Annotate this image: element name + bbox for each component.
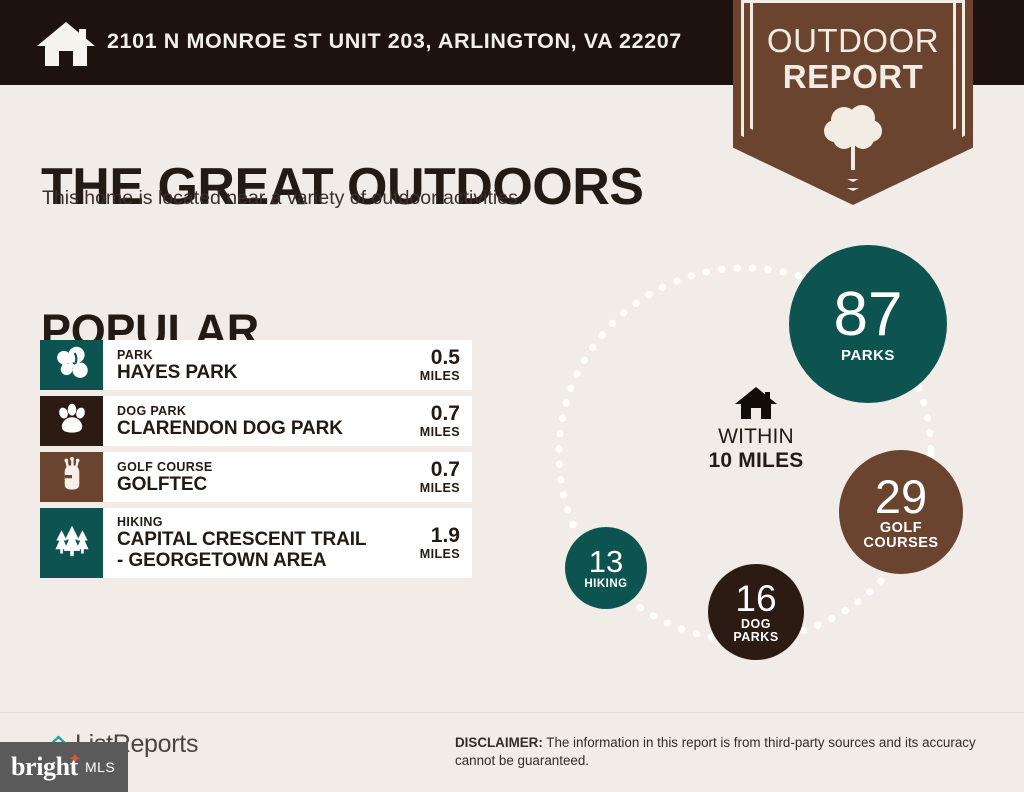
distance-unit: MILES — [400, 547, 460, 561]
pine-trees-icon — [52, 523, 92, 563]
bubble-label: HIKING — [584, 578, 627, 590]
bubble-label: PARKS — [841, 348, 895, 364]
within-10-miles-chart: WITHIN 10 MILES 87 PARKS 29 GOLF COURSES… — [518, 222, 1024, 672]
watermark-suffix: MLS — [85, 759, 115, 775]
list-item[interactable]: DOG PARK CLARENDON DOG PARK 0.7 MILES — [40, 396, 472, 446]
distance-value: 0.7 — [400, 459, 460, 481]
list-item[interactable]: HIKING CAPITAL CRESCENT TRAIL - GEORGETO… — [40, 508, 472, 578]
list-item-icon-cell — [40, 396, 103, 446]
park-trees-icon — [53, 345, 91, 386]
chart-center-label: WITHIN 10 MILES — [666, 385, 846, 473]
home-icon — [35, 20, 97, 68]
bubble-dog-parks[interactable]: 16 DOG PARKS — [708, 564, 804, 660]
disclaimer: DISCLAIMER: The information in this repo… — [455, 734, 990, 769]
outdoor-report-page: 2101 N MONROE ST UNIT 203, ARLINGTON, VA… — [0, 0, 1024, 792]
golf-bag-icon — [55, 457, 89, 498]
footer-divider — [0, 712, 1024, 713]
watermark-brand-text: bright — [11, 752, 78, 781]
distance-unit: MILES — [400, 369, 460, 383]
center-label-line1: WITHIN — [666, 425, 846, 449]
list-item-distance: 0.7 MILES — [392, 459, 460, 495]
list-item-distance: 0.7 MILES — [392, 403, 460, 439]
popular-list: PARK HAYES PARK 0.5 MILES — [40, 340, 472, 584]
badge-line2: REPORT — [733, 58, 973, 96]
distance-unit: MILES — [400, 481, 460, 495]
list-item[interactable]: PARK HAYES PARK 0.5 MILES — [40, 340, 472, 390]
page-subtitle: This home is located near a variety of o… — [42, 187, 523, 210]
tree-icon — [820, 100, 886, 172]
home-icon — [734, 385, 778, 421]
bubble-golf-courses[interactable]: 29 GOLF COURSES — [839, 450, 963, 574]
bubble-hiking[interactable]: 13 HIKING — [565, 527, 647, 609]
bubble-value: 29 — [875, 473, 927, 520]
bubble-value: 13 — [589, 546, 623, 577]
list-item-category: DOG PARK — [117, 404, 343, 418]
list-item-icon-cell — [40, 340, 103, 390]
disclaimer-label: DISCLAIMER: — [455, 735, 543, 750]
center-label-line2: 10 MILES — [666, 449, 846, 473]
list-item-icon-cell — [40, 508, 103, 578]
bubble-parks[interactable]: 87 PARKS — [789, 245, 947, 403]
list-item-distance: 1.9 MILES — [392, 525, 460, 561]
list-item-name: HAYES PARK — [117, 362, 237, 383]
list-item-distance: 0.5 MILES — [392, 347, 460, 383]
paw-print-icon — [54, 402, 90, 441]
list-item-category: GOLF COURSE — [117, 460, 213, 474]
bubble-label-line1: GOLF — [880, 521, 922, 536]
bright-mls-watermark: bright✦ MLS — [0, 742, 128, 792]
badge-line1: OUTDOOR — [733, 22, 973, 60]
list-item-icon-cell — [40, 452, 103, 502]
bubble-value: 87 — [834, 284, 903, 346]
distance-value: 0.7 — [400, 403, 460, 425]
distance-value: 0.5 — [400, 347, 460, 369]
list-item-name: CLARENDON DOG PARK — [117, 418, 343, 439]
bubble-value: 16 — [735, 580, 776, 617]
bubble-label-line2: COURSES — [863, 536, 938, 551]
distance-value: 1.9 — [400, 525, 460, 547]
watermark-brand: bright✦ — [11, 752, 78, 782]
list-item-body: GOLF COURSE GOLFTEC 0.7 MILES — [103, 452, 472, 502]
list-item-category: PARK — [117, 348, 237, 362]
property-address: 2101 N MONROE ST UNIT 203, ARLINGTON, VA… — [107, 29, 682, 54]
distance-unit: MILES — [400, 425, 460, 439]
list-item-body: PARK HAYES PARK 0.5 MILES — [103, 340, 472, 390]
list-item[interactable]: GOLF COURSE GOLFTEC 0.7 MILES — [40, 452, 472, 502]
bubble-label-line2: PARKS — [733, 631, 778, 644]
watermark-star-icon: ✦ — [69, 751, 80, 767]
list-item-body: HIKING CAPITAL CRESCENT TRAIL - GEORGETO… — [103, 508, 472, 578]
list-item-name: CAPITAL CRESCENT TRAIL - GEORGETOWN AREA — [117, 529, 367, 571]
list-item-body: DOG PARK CLARENDON DOG PARK 0.7 MILES — [103, 396, 472, 446]
list-item-category: HIKING — [117, 515, 367, 529]
list-item-name: GOLFTEC — [117, 474, 213, 495]
